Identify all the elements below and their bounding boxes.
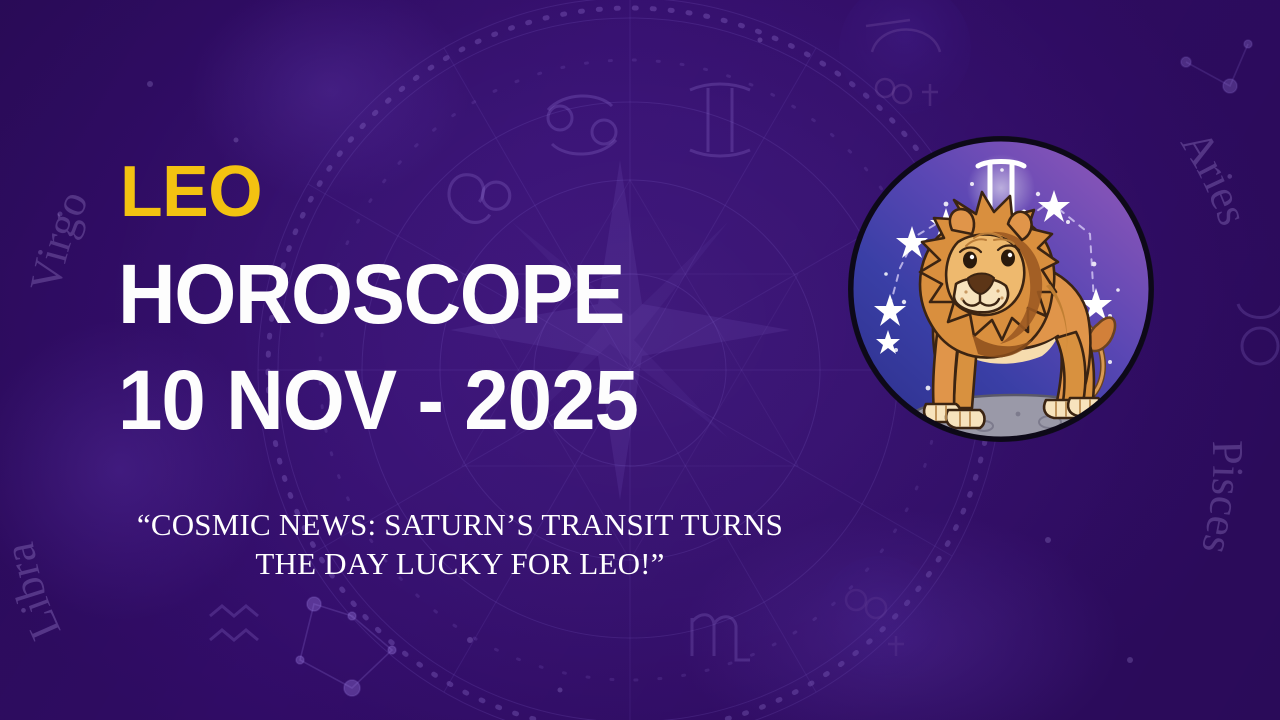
page-title: HOROSCOPE xyxy=(118,252,624,336)
zodiac-emblem-artwork xyxy=(842,126,1160,456)
zodiac-sign-title: LEO xyxy=(120,156,262,228)
headline-block: LEO HOROSCOPE 10 NOV - 2025 “COSMIC NEWS… xyxy=(0,0,820,720)
quote-line-2: THE DAY LUCKY FOR LEO!” xyxy=(60,544,860,583)
horoscope-banner: Virgo Libra Aries Pisces xyxy=(0,0,1280,720)
quote-text: “COSMIC NEWS: SATURN’S TRANSIT TURNS THE… xyxy=(60,505,860,583)
quote-line-1: “COSMIC NEWS: SATURN’S TRANSIT TURNS xyxy=(60,505,860,544)
zodiac-emblem xyxy=(842,126,1160,456)
date-range: 10 NOV - 2025 xyxy=(118,358,638,442)
